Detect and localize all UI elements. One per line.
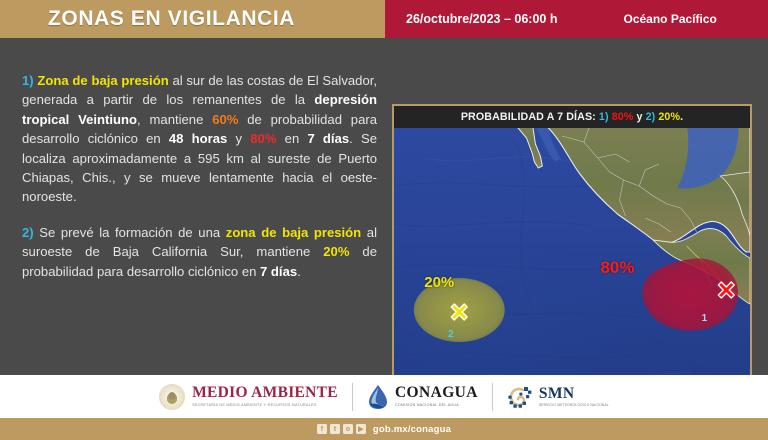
map-caption-conjunction: y <box>636 111 642 123</box>
mexico-coat-of-arms-icon <box>159 384 185 410</box>
weather-bulletin-slide: ZONAS EN VIGILANCIA 26/octubre/2023 – 06… <box>0 0 768 440</box>
logo-medio-ambiente: MEDIO AMBIENTE SECRETARÍA DE MEDIO AMBIE… <box>159 384 338 410</box>
map-caption: PROBABILIDAD A 7 DÍAS: 1) 80% y 2) 20%. <box>394 106 750 128</box>
smn-title: SMN <box>539 386 609 402</box>
baja-california-landmass <box>515 128 543 168</box>
instagram-icon[interactable]: o <box>343 424 353 434</box>
footer-website-url[interactable]: gob.mx/conagua <box>373 424 451 435</box>
item-2-window-7d: 7 días <box>260 264 297 279</box>
smn-spiral-icon <box>507 384 533 410</box>
logo-divider-2 <box>492 383 493 411</box>
header-bar: ZONAS EN VIGILANCIA 26/octubre/2023 – 06… <box>0 0 768 38</box>
logo-divider-1 <box>352 383 353 411</box>
logo-smn: SMN SERVICIO METEOROLÓGICO NACIONAL <box>507 384 609 410</box>
footer-social-bar: f t o ▶ gob.mx/conagua <box>0 418 768 440</box>
map-caption-prefix: PROBABILIDAD A 7 DÍAS: <box>461 111 596 123</box>
map-caption-value-2: 20% <box>658 111 680 123</box>
medio-ambiente-subtitle: SECRETARÍA DE MEDIO AMBIENTE Y RECURSOS … <box>192 404 338 408</box>
item-1-text-2: , mantiene <box>137 112 212 127</box>
social-icon-group: f t o ▶ <box>317 424 366 434</box>
item-1-window-7d: 7 días <box>307 131 349 146</box>
forecast-map-panel[interactable]: PROBABILIDAD A 7 DÍAS: 1) 80% y 2) 20%. <box>392 104 752 396</box>
item-1-text-4: y <box>227 131 250 146</box>
smn-subtitle: SERVICIO METEOROLÓGICO NACIONAL <box>539 404 609 407</box>
medio-ambiente-title: MEDIO AMBIENTE <box>192 385 338 401</box>
item-1-probability-7d: 80% <box>250 131 276 146</box>
item-2-index: 2) <box>22 225 34 240</box>
bulletin-text-column: 1) Zona de baja presión al sur de las co… <box>22 71 377 297</box>
zone-1-number-label: 1 <box>702 313 708 324</box>
item-2-highlight: zona de baja presión <box>226 225 361 240</box>
page-title: ZONAS EN VIGILANCIA <box>48 7 295 31</box>
map-graphics <box>394 128 750 394</box>
item-2-text-4: . <box>297 264 301 279</box>
item-1-highlight: Zona de baja presión <box>37 73 168 88</box>
zone-2-probability-label: 20% <box>424 274 454 291</box>
youtube-icon[interactable]: ▶ <box>356 424 366 434</box>
header-meta-band: 26/octubre/2023 – 06:00 h Océano Pacífic… <box>385 0 768 38</box>
bulletin-item-1: 1) Zona de baja presión al sur de las co… <box>22 71 377 207</box>
body-area: 1) Zona de baja presión al sur de las co… <box>0 38 768 375</box>
map-caption-index-2: 2) <box>646 111 656 123</box>
item-1-window-48h: 48 horas <box>169 131 227 146</box>
map-caption-index-1: 1) <box>599 111 609 123</box>
water-drop-icon <box>367 384 389 410</box>
twitter-icon[interactable]: t <box>330 424 340 434</box>
logo-conagua: CONAGUA COMISIÓN NACIONAL DEL AGUA <box>367 384 478 410</box>
zone-2-number-label: 2 <box>448 329 454 340</box>
map-caption-end: . <box>680 111 683 123</box>
item-2-text-1: Se prevé la formación de una <box>34 225 226 240</box>
bulletin-timestamp: 26/octubre/2023 – 06:00 h <box>406 12 557 26</box>
conagua-title: CONAGUA <box>395 385 478 401</box>
item-1-index: 1) <box>22 73 34 88</box>
item-2-probability-7d: 20% <box>323 244 349 259</box>
conagua-subtitle: COMISIÓN NACIONAL DEL AGUA <box>395 404 478 408</box>
facebook-icon[interactable]: f <box>317 424 327 434</box>
map-caption-value-1: 80% <box>612 111 634 123</box>
bulletin-item-2: 2) Se prevé la formación de una zona de … <box>22 223 377 281</box>
map-canvas[interactable]: 80% 1 20% 2 <box>394 128 750 394</box>
item-1-probability-48h: 60% <box>212 112 238 127</box>
zone-1-probability-label: 80% <box>600 258 634 278</box>
header-title-band: ZONAS EN VIGILANCIA <box>0 0 385 38</box>
item-1-text-5: en <box>276 131 307 146</box>
footer-logo-bar: MEDIO AMBIENTE SECRETARÍA DE MEDIO AMBIE… <box>0 375 768 418</box>
ocean-basin-label: Océano Pacífico <box>623 12 716 26</box>
